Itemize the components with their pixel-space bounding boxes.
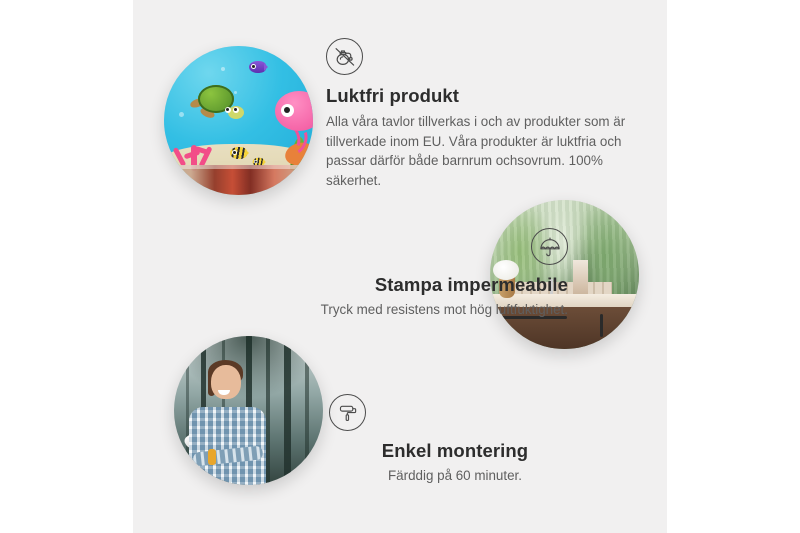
feature-easy-mounting: Enkel montering Färddig på 60 minuter. bbox=[305, 394, 605, 486]
no-fragrance-icon-wrap bbox=[326, 38, 626, 75]
roller-handle-icon bbox=[208, 449, 216, 465]
bubble-icon bbox=[221, 67, 225, 71]
soap-bottle-icon bbox=[573, 260, 588, 294]
woman-with-paint-roller-photo bbox=[174, 336, 323, 485]
feature-title: Luktfri produkt bbox=[326, 84, 626, 107]
room-photo-strip bbox=[164, 165, 313, 195]
no-fragrance-icon bbox=[326, 38, 363, 75]
feature-description: Alla våra tavlor tillverkas i och av pro… bbox=[326, 112, 626, 190]
yellow-fish-icon bbox=[230, 147, 247, 159]
infographic-canvas: Luktfri produkt Alla våra tavlor tillver… bbox=[133, 0, 667, 533]
infographic-stage: Luktfri produkt Alla våra tavlor tillver… bbox=[0, 0, 800, 533]
bubble-icon bbox=[179, 112, 184, 117]
underwater-kids-mural-photo bbox=[164, 46, 313, 195]
turtle-icon bbox=[194, 85, 238, 119]
feature-title: Stampa impermeabile bbox=[193, 273, 568, 296]
woman-figure bbox=[186, 363, 269, 485]
feature-description: Färddig på 60 minuter. bbox=[305, 466, 605, 486]
feature-waterproof: Stampa impermeabile Tryck med resistens … bbox=[193, 228, 568, 320]
paint-roller-icon bbox=[329, 394, 366, 431]
paint-roller-icon-wrap bbox=[305, 394, 605, 439]
feature-odor-free: Luktfri produkt Alla våra tavlor tillver… bbox=[326, 38, 626, 190]
umbrella-icon bbox=[531, 228, 568, 265]
purple-fish-icon bbox=[249, 61, 266, 73]
umbrella-icon-wrap bbox=[193, 228, 568, 273]
feature-description: Tryck med resistens mot hög luftfuktighe… bbox=[193, 300, 568, 320]
octopus-icon bbox=[265, 91, 313, 145]
feature-title: Enkel montering bbox=[305, 439, 605, 462]
